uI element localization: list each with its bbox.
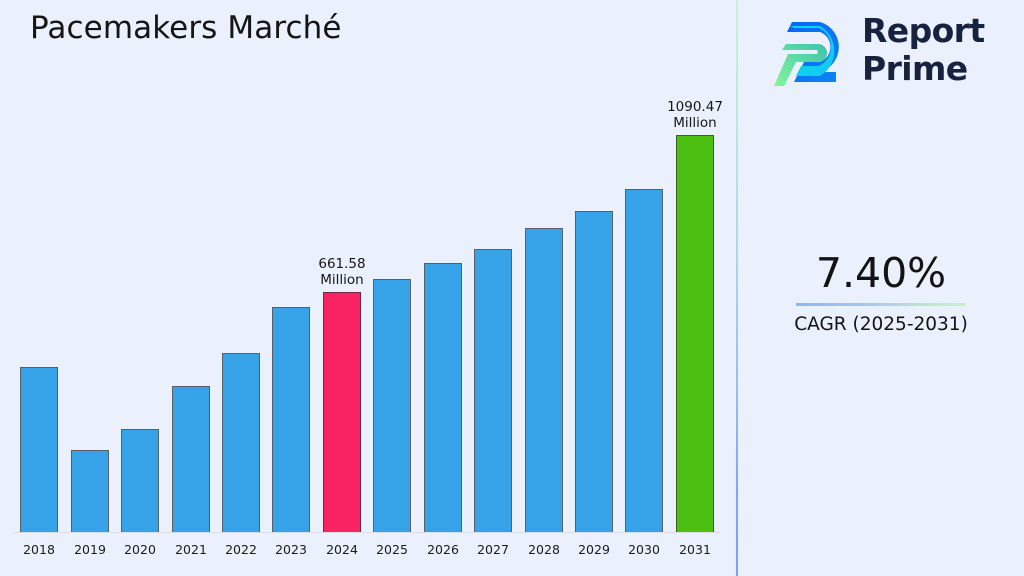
bar-value-amount: 661.58 [292, 256, 392, 272]
bar-value-label-2024: 661.58Million [292, 256, 392, 288]
brand-name: Report Prime [862, 12, 985, 88]
brand-name-line2: Prime [862, 50, 985, 88]
bar-2026 [424, 263, 462, 533]
x-tick-2025: 2025 [373, 542, 411, 557]
brand-name-line1: Report [862, 12, 985, 50]
plot-area: 661.58Million1090.47Million [14, 110, 720, 533]
bar-2023 [272, 307, 310, 533]
bar-2028 [525, 228, 563, 533]
bar-2022 [222, 353, 260, 533]
x-tick-2024: 2024 [323, 542, 361, 557]
bar-chart: 661.58Million1090.47Million 201820192020… [0, 0, 737, 576]
x-tick-2022: 2022 [222, 542, 260, 557]
cagr-divider-rule [796, 303, 966, 306]
bar-2029 [575, 211, 613, 533]
cagr-value: 7.40% [738, 248, 1024, 298]
bar-value-amount: 1090.47 [645, 99, 745, 115]
x-tick-2028: 2028 [525, 542, 563, 557]
bar-2021 [172, 386, 210, 533]
bar-2024 [323, 292, 361, 533]
x-axis-tick-labels: 2018201920202021202220232024202520262027… [14, 542, 720, 566]
bar-2027 [474, 249, 512, 533]
x-tick-2020: 2020 [121, 542, 159, 557]
x-tick-2021: 2021 [172, 542, 210, 557]
brand-logo: Report Prime [774, 12, 1002, 94]
x-tick-2029: 2029 [575, 542, 613, 557]
bar-2030 [625, 189, 663, 533]
bar-2018 [20, 367, 58, 533]
x-tick-2019: 2019 [71, 542, 109, 557]
bar-value-unit: Million [292, 272, 392, 288]
x-tick-2023: 2023 [272, 542, 310, 557]
bar-value-label-2031: 1090.47Million [645, 99, 745, 131]
x-tick-2026: 2026 [424, 542, 462, 557]
x-tick-2027: 2027 [474, 542, 512, 557]
x-tick-2018: 2018 [20, 542, 58, 557]
bar-value-unit: Million [645, 115, 745, 131]
x-tick-2031: 2031 [676, 542, 714, 557]
summary-panel: Report Prime 7.40% CAGR (2025-2031) [738, 0, 1024, 576]
chart-page: Pacemakers Marché 661.58Million1090.47Mi… [0, 0, 1024, 576]
x-tick-2030: 2030 [625, 542, 663, 557]
cagr-block: 7.40% CAGR (2025-2031) [738, 248, 1024, 337]
bar-2031 [676, 135, 714, 533]
bar-2019 [71, 450, 109, 533]
x-axis-line [14, 532, 720, 533]
report-prime-logo-icon [774, 16, 852, 90]
bar-2025 [373, 279, 411, 533]
bar-2020 [121, 429, 159, 533]
cagr-caption: CAGR (2025-2031) [738, 313, 1024, 337]
